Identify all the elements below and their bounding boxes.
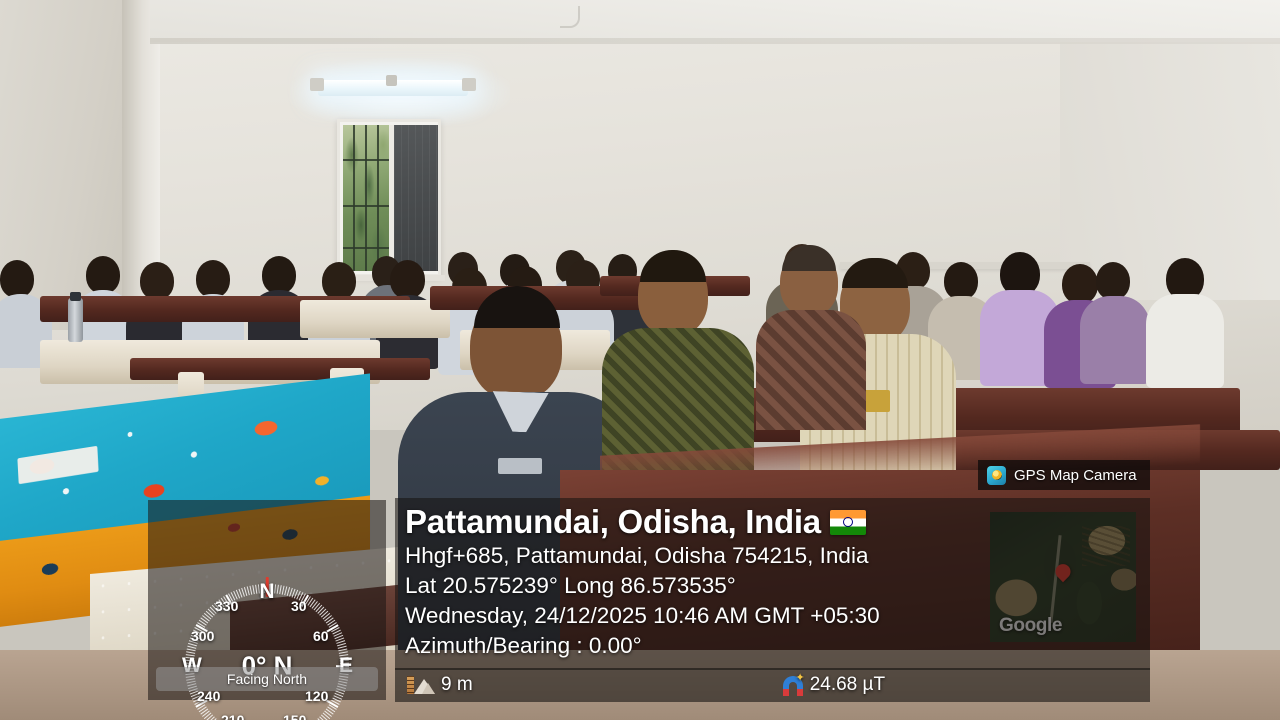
magnetic-field-metric: ✦ 24.68 µT (782, 674, 885, 696)
compass-dial: N E S W 30 60 120 150 210 240 300 330 0°… (185, 584, 349, 720)
compass-degree-300: 300 (191, 628, 214, 644)
compass-degree-330: 330 (215, 598, 238, 614)
compass-degree-30: 30 (291, 598, 307, 614)
compass-degree-210: 210 (221, 712, 244, 720)
altitude-value: 9 m (441, 674, 473, 696)
altitude-mountain-icon (407, 675, 435, 695)
compass-panel: N E S W 30 60 120 150 210 240 300 330 0°… (148, 500, 386, 700)
magnet-icon: ✦ (782, 675, 804, 696)
app-name-label: GPS Map Camera (1014, 467, 1137, 484)
location-coordinates: Lat 20.575239° Long 86.573535° (405, 571, 1150, 601)
magnetic-field-value: 24.68 µT (810, 674, 885, 696)
azimuth-bearing: Azimuth/Bearing : 0.00° (405, 631, 1150, 661)
compass-degree-150: 150 (283, 712, 306, 720)
facing-direction-label: Facing North (227, 671, 307, 687)
camera-lens-icon (987, 466, 1006, 485)
metrics-bar: 9 m ✦ 24.68 µT (395, 668, 1150, 702)
compass-cardinal-n: N (259, 580, 274, 604)
location-info-panel: Pattamundai, Odisha, India Hhgf+685, Pat… (395, 498, 1150, 670)
app-badge: GPS Map Camera (978, 460, 1150, 490)
altitude-metric: 9 m (407, 674, 473, 696)
facing-direction-badge: Facing North (156, 667, 378, 691)
screenshot-root: GPS Map Camera Google N E S W 30 60 120 (0, 0, 1280, 720)
location-address: Hhgf+685, Pattamundai, Odisha 754215, In… (405, 541, 1150, 571)
compass-degree-60: 60 (313, 628, 329, 644)
location-title: Pattamundai, Odisha, India (405, 504, 821, 541)
location-title-row: Pattamundai, Odisha, India (405, 504, 1150, 541)
india-flag-icon (830, 510, 866, 535)
capture-timestamp: Wednesday, 24/12/2025 10:46 AM GMT +05:3… (405, 601, 1150, 631)
gps-camera-overlay: GPS Map Camera Google N E S W 30 60 120 (0, 0, 1280, 720)
